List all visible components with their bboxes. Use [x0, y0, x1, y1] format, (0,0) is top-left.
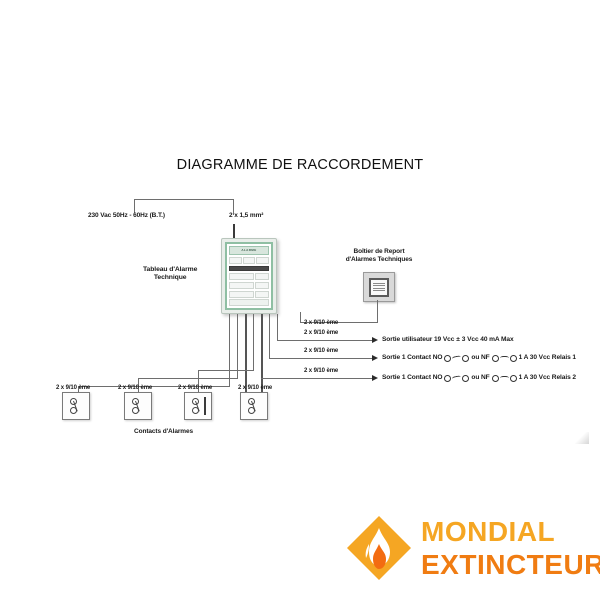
- alarm-panel-screen: ALARME: [229, 246, 269, 255]
- output-2-text-before: Sortie 1 Contact NO: [382, 354, 442, 362]
- brand-wordmark: MONDIAL EXTINCTEUR: [421, 518, 600, 579]
- alarm-contact-box: [62, 392, 90, 420]
- output-3-arrow-icon: [372, 375, 378, 381]
- brand-line-1: MONDIAL: [421, 518, 600, 546]
- output-1-text-before: Sortie utilisateur 19 Vcc: [382, 336, 454, 343]
- alarm-panel-device: ALARME: [221, 238, 277, 314]
- panel-cell: [256, 257, 269, 264]
- panel-cell: [255, 273, 269, 280]
- output-2-arrow-icon: [372, 355, 378, 361]
- output-1-wire: [277, 340, 375, 341]
- power-wire-left-riser: [134, 199, 135, 213]
- power-cable-label: 2 x 1,5 mm²: [229, 212, 263, 220]
- output-2-cable-label: 2 x 9/10 ème: [304, 348, 338, 356]
- panel-bar: [229, 266, 269, 271]
- report-box-bus-riser: [300, 312, 301, 322]
- contact-no-symbol-icon: [444, 375, 469, 382]
- output-3-text: Sortie 1 Contact NO ou NF 1 A 30 Vcc Rel…: [382, 374, 576, 382]
- output-3-mid-text: ou NF: [471, 374, 489, 382]
- report-box-line: [373, 288, 385, 289]
- bus-line-1: [229, 314, 230, 386]
- report-box-label-line1: Boîtier de Report: [353, 248, 404, 255]
- report-box-label-line2: d'Alarmes Techniques: [346, 256, 413, 263]
- output-3-wire: [261, 378, 375, 379]
- report-box-line: [373, 283, 385, 284]
- contact-terminal-icon: [70, 407, 77, 414]
- power-wire-top: [134, 199, 234, 200]
- output-2-wire: [269, 358, 375, 359]
- bus-line-4: [253, 314, 254, 370]
- output-1-arrow-icon: [372, 337, 378, 343]
- alarm-contact-box: [124, 392, 152, 420]
- contact-nf-symbol-icon: [492, 355, 517, 362]
- contact-2-wire: [138, 378, 238, 379]
- panel-cell: [229, 282, 254, 289]
- report-box-cable-label: 2 x 9/10 ème: [304, 320, 338, 328]
- panel-label-line2: Technique: [154, 274, 187, 281]
- bus-line-5: [261, 314, 263, 392]
- output-2-text: Sortie 1 Contact NO ou NF 1 A 30 Vcc Rel…: [382, 354, 576, 362]
- output-1-symbol: ±: [456, 336, 460, 343]
- panel-cell: [229, 257, 242, 264]
- output-2-text-after: 1 A 30 Vcc Relais 1: [519, 354, 576, 362]
- page-artifact: [575, 432, 589, 444]
- output-3-text-after: 1 A 30 Vcc Relais 2: [519, 374, 576, 382]
- panel-cell: [255, 282, 269, 289]
- alarm-panel-screen-text: ALARME: [241, 248, 256, 252]
- alarm-panel-footer: [229, 299, 269, 306]
- alarm-contact-box: [240, 392, 268, 420]
- output-1-text-after: 3 Vcc 40 mA Max: [462, 336, 514, 343]
- alarm-panel-top-cells: [229, 257, 269, 264]
- power-wire-to-panel: [233, 224, 235, 238]
- report-box-drop-wire: [377, 300, 378, 322]
- contact-bar-icon: [204, 397, 206, 415]
- alarm-panel-face: ALARME: [225, 242, 273, 310]
- panel-cell: [229, 273, 254, 280]
- report-box-line: [373, 285, 385, 286]
- contact-no-symbol-icon: [444, 355, 469, 362]
- report-box-face: [369, 278, 389, 297]
- report-box-device: [363, 272, 395, 302]
- brand-logo: MONDIAL EXTINCTEUR: [345, 512, 593, 584]
- bus-line-7: [277, 314, 278, 340]
- page-title: DIAGRAMME DE RACCORDEMENT: [0, 156, 600, 174]
- output-1-text: Sortie utilisateur 19 Vcc±3 Vcc 40 mA Ma…: [382, 336, 514, 344]
- alarm-panel-rows: [229, 291, 269, 298]
- flame-diamond-logo-icon: [345, 514, 413, 582]
- panel-label-line1: Tableau d'Alarme: [143, 266, 197, 273]
- report-box-label: Boîtier de Report d'Alarmes Techniques: [340, 248, 418, 264]
- output-2-mid-text: ou NF: [471, 354, 489, 362]
- bus-line-6: [269, 314, 270, 358]
- panel-cell: [229, 291, 254, 298]
- contact-3-wire: [198, 370, 254, 371]
- diagram-canvas: DIAGRAMME DE RACCORDEMENT 230 Vac 50Hz -…: [0, 0, 600, 600]
- contact-terminal-icon: [248, 407, 255, 414]
- alarm-panel-rows: [229, 273, 269, 280]
- alarm-contact-box: [184, 392, 212, 420]
- alarm-panel-rows: [229, 282, 269, 289]
- output-3-cable-label: 2 x 9/10 ème: [304, 368, 338, 376]
- contact-terminal-icon: [192, 407, 199, 414]
- brand-line-2: EXTINCTEUR: [421, 551, 600, 579]
- alarm-contacts-group-label: Contacts d'Alarmes: [134, 428, 193, 436]
- panel-cell: [255, 291, 269, 298]
- panel-label: Tableau d'Alarme Technique: [143, 266, 197, 283]
- output-1-cable-label: 2 x 9/10 ème: [304, 330, 338, 338]
- output-3-text-before: Sortie 1 Contact NO: [382, 374, 442, 382]
- bus-line-3: [245, 314, 247, 394]
- contact-terminal-icon: [132, 407, 139, 414]
- contact-nf-symbol-icon: [492, 375, 517, 382]
- report-box-line: [373, 290, 385, 291]
- bus-line-2: [237, 314, 238, 378]
- panel-cell: [243, 257, 256, 264]
- power-supply-label: 230 Vac 50Hz - 60Hz (B.T.): [88, 212, 165, 220]
